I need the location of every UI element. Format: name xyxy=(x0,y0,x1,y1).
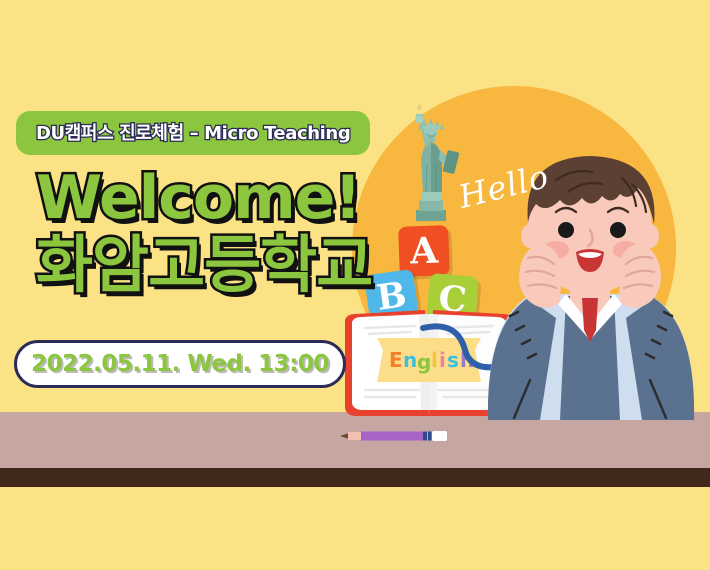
purple-pencil-icon xyxy=(340,429,458,443)
svg-text:i: i xyxy=(439,348,446,372)
poster-canvas: A B C E n g l i s h xyxy=(0,0,710,570)
svg-text:l: l xyxy=(431,348,438,372)
headline-school-name: 화암고등학교 xyxy=(36,234,376,296)
headline-welcome: Welcome! xyxy=(36,168,376,228)
svg-text:g: g xyxy=(417,350,431,374)
statue-of-liberty-icon xyxy=(392,88,470,228)
event-ribbon-banner: DU캠퍼스 진로체험 – Micro Teaching xyxy=(16,111,370,155)
smiling-student-boy-illustration xyxy=(470,118,710,420)
svg-text:E: E xyxy=(389,348,403,372)
page-title: Welcome! 화암고등학교 xyxy=(36,168,376,296)
svg-text:s: s xyxy=(447,348,459,372)
bottom-background-band xyxy=(0,487,710,570)
desk-edge xyxy=(0,468,710,487)
event-datetime-label: 2022.05.11. Wed. 13:00 xyxy=(31,351,329,377)
event-datetime-badge: 2022.05.11. Wed. 13:00 xyxy=(14,340,346,388)
svg-text:n: n xyxy=(403,348,417,372)
event-ribbon-label: DU캠퍼스 진로체험 – Micro Teaching xyxy=(36,119,350,145)
